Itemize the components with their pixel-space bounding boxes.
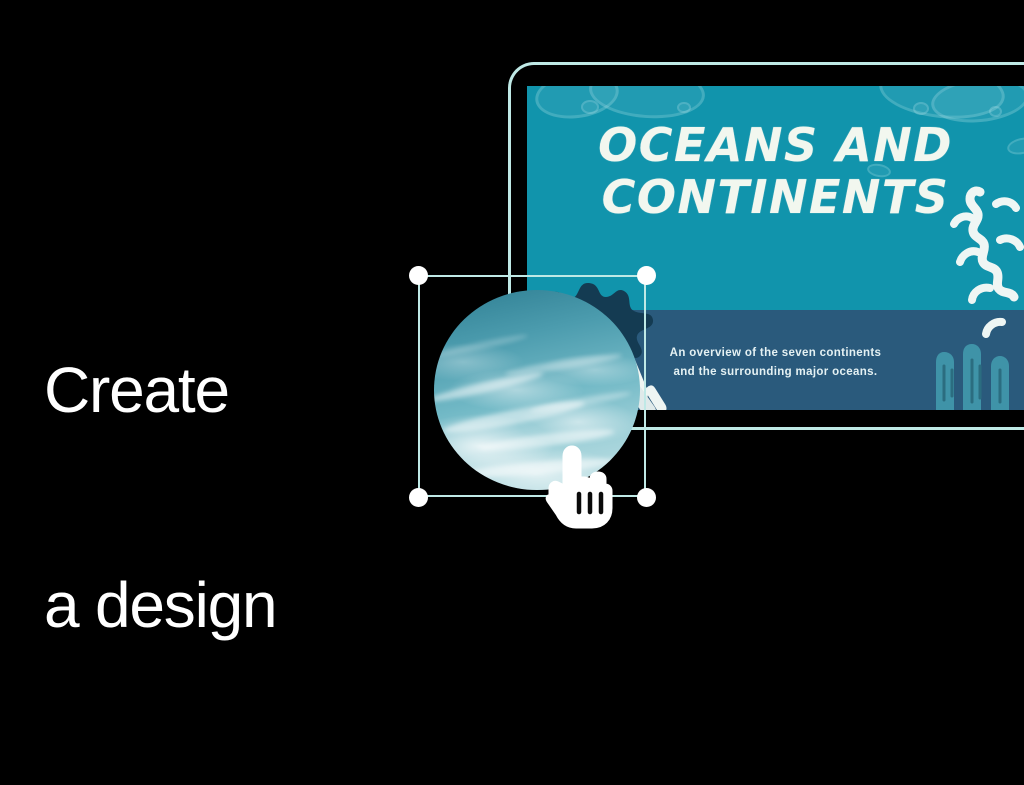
bubble-decoration [913, 102, 929, 115]
page-title: Create a design [44, 212, 276, 785]
canvas-stage: Create a design [0, 0, 1024, 576]
pointing-hand-cursor [534, 444, 618, 530]
bubble-decoration [989, 106, 1002, 117]
resize-handle-bottom-left[interactable] [409, 488, 428, 507]
slide-title: OCEANS AND CONTINENTS [527, 120, 1024, 223]
resize-handle-top-left[interactable] [409, 266, 428, 285]
headline-line-2: a design [44, 570, 276, 642]
resize-handle-top-right[interactable] [637, 266, 656, 285]
resize-handle-bottom-right[interactable] [637, 488, 656, 507]
bubble-decoration [581, 100, 599, 114]
headline-line-1: Create [44, 355, 276, 427]
bubble-decoration [677, 102, 691, 113]
